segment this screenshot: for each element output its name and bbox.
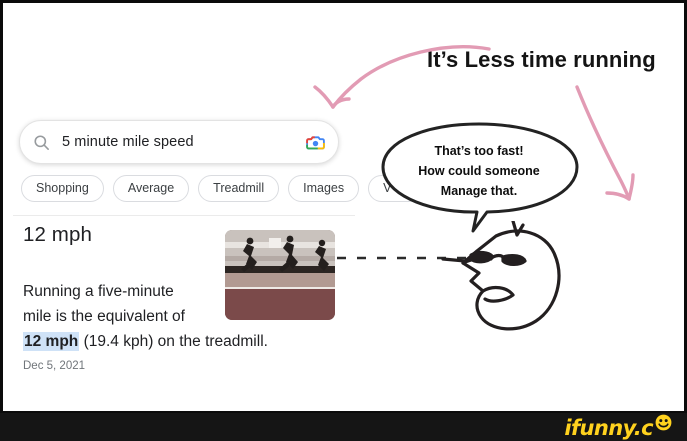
watermark-text: ifunny.c <box>564 417 653 439</box>
meme-image: 5 minute mile speed Shopping Average Tre… <box>0 0 687 441</box>
ifunny-watermark: ifunny.c <box>564 413 673 439</box>
answer-line-3: 12 mph (19.4 kph) on the treadmill. <box>23 329 323 354</box>
bubble-line-1: That’s too fast! <box>369 141 589 161</box>
chip-treadmill[interactable]: Treadmill <box>198 175 279 202</box>
smiley-face-icon <box>654 413 673 437</box>
search-filter-chips: Shopping Average Treadmill Images V <box>21 175 422 202</box>
search-input[interactable]: 5 minute mile speed <box>62 134 305 150</box>
google-lens-camera-icon[interactable] <box>305 132 326 153</box>
chip-shopping[interactable]: Shopping <box>21 175 104 202</box>
chips-divider <box>13 215 355 216</box>
runners-thumbnail[interactable] <box>225 230 335 320</box>
answer-date: Dec 5, 2021 <box>23 360 85 372</box>
cartoon-profile-face <box>441 221 591 336</box>
bubble-line-2: How could someone <box>369 161 589 181</box>
chip-average[interactable]: Average <box>113 175 189 202</box>
speech-bubble: That’s too fast! How could someone Manag… <box>369 119 589 235</box>
speech-bubble-text: That’s too fast! How could someone Manag… <box>369 141 589 201</box>
answer-headline: 12 mph <box>23 223 92 247</box>
pink-arrow-down-right <box>559 81 679 216</box>
highlighted-answer-value: 12 mph <box>23 332 79 351</box>
search-icon <box>32 133 51 152</box>
pink-arrow-down-left <box>261 3 491 123</box>
search-bar[interactable]: 5 minute mile speed <box>19 120 339 164</box>
chip-images[interactable]: Images <box>288 175 359 202</box>
meme-canvas: 5 minute mile speed Shopping Average Tre… <box>0 0 687 413</box>
bubble-line-3: Manage that. <box>369 181 589 201</box>
answer-line-3-tail: (19.4 kph) on the treadmill. <box>79 333 268 350</box>
watermark-bar: ifunny.c <box>0 413 687 441</box>
